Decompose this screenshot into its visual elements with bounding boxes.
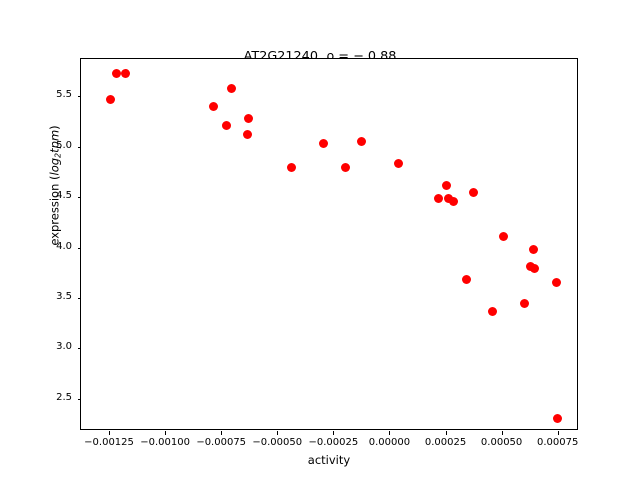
data-point <box>529 245 538 254</box>
x-axis-tick <box>221 431 222 435</box>
y-axis-label-subscript: 2 <box>54 153 63 158</box>
x-axis-tick <box>446 431 447 435</box>
y-axis-label-suffix: ) <box>48 125 62 130</box>
data-point <box>488 307 497 316</box>
data-point <box>499 232 508 241</box>
data-point <box>553 414 562 423</box>
x-axis-tick <box>389 431 390 435</box>
data-point <box>530 264 539 273</box>
y-axis-tick-label: 3.0 <box>12 341 72 352</box>
y-axis-label-log: log <box>48 158 62 176</box>
x-axis-tick <box>333 431 334 435</box>
data-point <box>442 181 451 190</box>
x-axis-tick <box>165 431 166 435</box>
y-axis-tick-label: 5.5 <box>12 89 72 100</box>
x-axis-label: activity <box>80 453 578 467</box>
y-axis-tick <box>78 147 82 148</box>
data-point <box>469 188 478 197</box>
data-point <box>244 114 253 123</box>
plot-axes-frame: −0.00125−0.00100−0.00075−0.00050−0.00025… <box>80 58 578 430</box>
y-axis-tick <box>78 298 82 299</box>
data-point <box>243 130 252 139</box>
data-point <box>209 102 218 111</box>
data-point <box>552 278 561 287</box>
x-axis-tick <box>558 431 559 435</box>
y-axis-tick <box>78 348 82 349</box>
y-axis-tick-label: 5.0 <box>12 140 72 151</box>
y-axis-tick <box>78 96 82 97</box>
data-point <box>341 163 350 172</box>
y-axis-tick-label: 2.5 <box>12 392 72 403</box>
y-axis-tick-label: 4.0 <box>12 241 72 252</box>
data-point <box>106 95 115 104</box>
y-axis-label: expression (log2tpm) <box>48 36 63 336</box>
data-point <box>357 137 366 146</box>
y-axis-tick <box>78 248 82 249</box>
data-point <box>394 159 403 168</box>
x-axis-tick <box>109 431 110 435</box>
data-point <box>434 194 443 203</box>
y-axis-label-unit: tpm <box>48 130 62 153</box>
data-point <box>112 69 121 78</box>
y-axis-tick-label: 4.5 <box>12 190 72 201</box>
y-axis-label-prefix: expression ( <box>48 175 62 245</box>
data-point <box>227 84 236 93</box>
data-points-layer <box>81 59 577 429</box>
y-axis-tick <box>78 399 82 400</box>
data-point <box>449 197 458 206</box>
data-point <box>520 299 529 308</box>
data-point <box>121 69 130 78</box>
scatter-plot-figure: AT2G21240, ρ = − 0.88 arTal_v1_Chr2_-_91… <box>0 0 640 480</box>
y-axis-tick-label: 3.5 <box>12 291 72 302</box>
x-axis-tick-label: 0.00075 <box>518 437 598 448</box>
y-axis-tick <box>78 197 82 198</box>
x-axis-tick <box>277 431 278 435</box>
data-point <box>287 163 296 172</box>
data-point <box>462 275 471 284</box>
data-point <box>319 139 328 148</box>
x-axis-tick <box>502 431 503 435</box>
data-point <box>222 121 231 130</box>
